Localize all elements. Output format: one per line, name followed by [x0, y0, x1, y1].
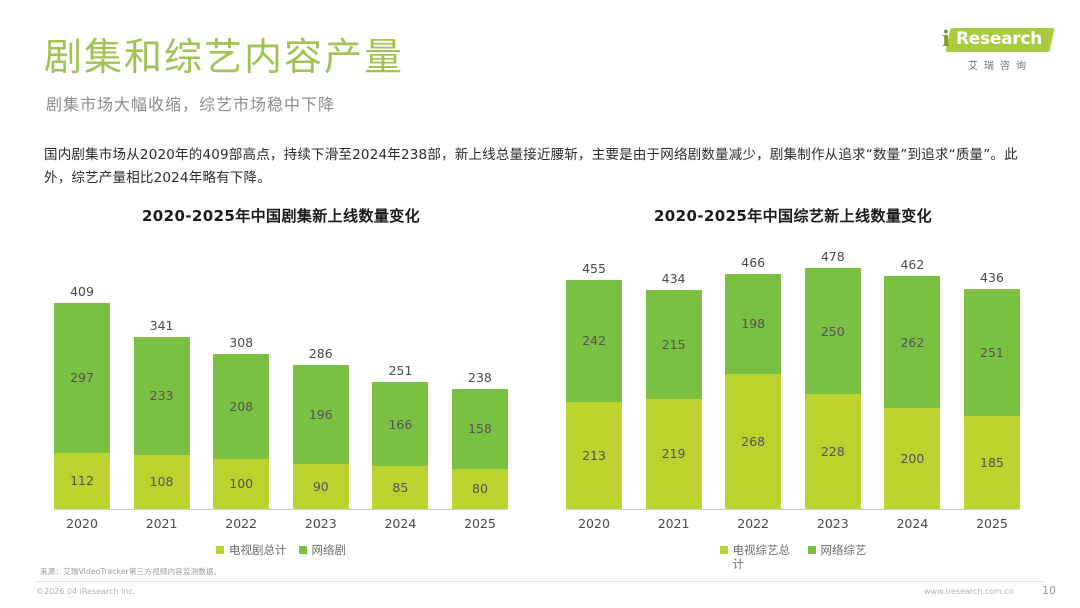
body-paragraph: 国内剧集市场从2020年的409部高点，持续下滑至2024年238部，新上线总量… [44, 144, 1044, 190]
bar-segment-value: 219 [662, 446, 686, 461]
legend-item[interactable]: 网络剧 [299, 543, 347, 557]
bar-group: 4552422134342152194661982684782502284622… [566, 238, 1020, 509]
bar-segment: 208 [213, 354, 269, 459]
bar-total-label: 434 [646, 271, 702, 286]
bar-segment: 100 [213, 459, 269, 509]
bar-segment-value: 85 [392, 480, 408, 495]
x-axis-tick-label: 2024 [372, 516, 428, 531]
chart-panel-drama: 2020-2025年中国剧集新上线数量变化 409297112341233108… [36, 205, 526, 560]
bar-segment: 185 [964, 416, 1020, 509]
page-title: 剧集和综艺内容产量 [44, 33, 404, 81]
bar-segment: 90 [293, 464, 349, 509]
bar-segment-value: 242 [582, 333, 606, 348]
bar-column: 455242213 [566, 238, 622, 509]
bar-segment-value: 80 [472, 481, 488, 496]
bar-total-label: 286 [293, 346, 349, 361]
bar-segment: 112 [54, 453, 110, 509]
bar-segment: 219 [646, 399, 702, 509]
bar-segment: 297 [54, 303, 110, 453]
legend-label: 网络综艺 [821, 543, 867, 557]
legend-label: 电视综艺总计 [733, 543, 796, 571]
copyright-text: ©2026.04 iResearch Inc. [36, 587, 135, 596]
logo-mark: i Research [936, 26, 1054, 54]
bar-total-label: 478 [805, 249, 861, 264]
bar-total-label: 238 [452, 370, 508, 385]
bar-column: 434215219 [646, 238, 702, 509]
chart-title: 2020-2025年中国综艺新上线数量变化 [548, 205, 1038, 226]
bar-segment-value: 250 [821, 324, 845, 339]
chart-legend: 电视综艺总计网络综艺 [548, 543, 1038, 571]
legend-item[interactable]: 电视剧总计 [216, 543, 287, 557]
source-note: 来源：艾瑞VideoTracker第三方视频内容监测数据。 [40, 566, 221, 577]
x-axis-tick-label: 2022 [213, 516, 269, 531]
bar-segment-value: 196 [309, 407, 333, 422]
x-axis-tick-label: 2024 [884, 516, 940, 531]
x-axis-tick-label: 2021 [134, 516, 190, 531]
bar-column: 409297112 [54, 238, 110, 509]
page-subtitle: 剧集市场大幅收缩，综艺市场稳中下降 [46, 93, 335, 117]
bar-segment: 108 [134, 455, 190, 509]
bar-segment: 166 [372, 382, 428, 466]
legend-swatch-icon [299, 546, 307, 554]
bar-total-label: 462 [884, 257, 940, 272]
bar-segment-value: 185 [980, 455, 1004, 470]
legend-swatch-icon [808, 546, 816, 554]
x-axis-line [54, 509, 508, 510]
bar-column: 25116685 [372, 238, 428, 509]
legend-swatch-icon [720, 546, 728, 554]
bar-segment-value: 251 [980, 345, 1004, 360]
bar-column: 436251185 [964, 238, 1020, 509]
legend-label: 电视剧总计 [229, 543, 287, 557]
bar-total-label: 436 [964, 270, 1020, 285]
x-axis-tick-label: 2023 [805, 516, 861, 531]
x-axis-tick-label: 2021 [646, 516, 702, 531]
logo-wordmark: Research [956, 27, 1042, 51]
bar-column: 23815880 [452, 238, 508, 509]
bar-segment: 233 [134, 337, 190, 454]
chart-plot-area: 4552422134342152194661982684782502284622… [566, 238, 1020, 510]
bar-segment: 198 [725, 274, 781, 374]
x-axis-tick-label: 2020 [566, 516, 622, 531]
bar-segment-value: 297 [70, 370, 94, 385]
bar-segment-value: 90 [313, 479, 329, 494]
bar-segment: 158 [452, 389, 508, 469]
website-url: www.iresearch.com.cn [924, 587, 1014, 596]
chart-plot-area: 4092971123412331083082081002861969025116… [54, 238, 508, 510]
iresearch-logo: i Research 艾瑞咨询 [936, 26, 1054, 72]
bar-segment: 213 [566, 402, 622, 509]
bar-group: 4092971123412331083082081002861969025116… [54, 238, 508, 509]
chart-title: 2020-2025年中国剧集新上线数量变化 [36, 205, 526, 226]
bar-total-label: 409 [54, 284, 110, 299]
chart-legend: 电视剧总计网络剧 [36, 543, 526, 557]
chart-panel-variety: 2020-2025年中国综艺新上线数量变化 455242213434215219… [548, 205, 1038, 560]
x-axis-ticks: 202020212022202320242025 [54, 516, 508, 531]
x-axis-line [566, 509, 1020, 510]
bar-segment: 85 [372, 466, 428, 509]
bar-column: 28619690 [293, 238, 349, 509]
bar-segment-value: 233 [150, 388, 174, 403]
legend-label: 网络剧 [312, 543, 347, 557]
bar-total-label: 466 [725, 255, 781, 270]
bar-segment-value: 158 [468, 421, 492, 436]
bar-segment-value: 166 [388, 417, 412, 432]
bar-segment-value: 228 [821, 444, 845, 459]
logo-chinese-name: 艾瑞咨询 [936, 57, 1054, 72]
bar-column: 478250228 [805, 238, 861, 509]
bar-column: 462262200 [884, 238, 940, 509]
bar-segment-value: 268 [741, 434, 765, 449]
bar-segment-value: 112 [70, 473, 94, 488]
bar-column: 341233108 [134, 238, 190, 509]
bar-segment-value: 198 [741, 316, 765, 331]
bar-segment: 250 [805, 268, 861, 394]
page-number: 10 [1042, 584, 1056, 597]
bar-segment-value: 215 [662, 337, 686, 352]
bar-segment: 215 [646, 290, 702, 398]
bar-segment-value: 262 [900, 335, 924, 350]
bar-segment-value: 100 [229, 476, 253, 491]
x-axis-ticks: 202020212022202320242025 [566, 516, 1020, 531]
bar-total-label: 455 [566, 261, 622, 276]
legend-item[interactable]: 电视综艺总计 [720, 543, 796, 571]
bar-segment: 200 [884, 408, 940, 509]
logo-letter-i: i [942, 26, 950, 52]
bar-total-label: 341 [134, 318, 190, 333]
bar-segment-value: 108 [150, 474, 174, 489]
legend-item[interactable]: 网络综艺 [808, 543, 867, 557]
x-axis-tick-label: 2022 [725, 516, 781, 531]
x-axis-tick-label: 2025 [964, 516, 1020, 531]
bar-segment-value: 208 [229, 399, 253, 414]
bar-segment: 251 [964, 289, 1020, 416]
bar-segment: 228 [805, 394, 861, 509]
bar-column: 308208100 [213, 238, 269, 509]
bar-segment: 242 [566, 280, 622, 402]
x-axis-tick-label: 2023 [293, 516, 349, 531]
bar-segment: 80 [452, 469, 508, 509]
bar-column: 466198268 [725, 238, 781, 509]
footer-divider [36, 581, 1044, 582]
bar-segment: 262 [884, 276, 940, 408]
bar-segment-value: 200 [900, 451, 924, 466]
bar-segment: 196 [293, 365, 349, 464]
bar-total-label: 251 [372, 363, 428, 378]
bar-segment-value: 213 [582, 448, 606, 463]
bar-segment: 268 [725, 374, 781, 509]
x-axis-tick-label: 2020 [54, 516, 110, 531]
bar-total-label: 308 [213, 335, 269, 350]
legend-swatch-icon [216, 546, 224, 554]
x-axis-tick-label: 2025 [452, 516, 508, 531]
